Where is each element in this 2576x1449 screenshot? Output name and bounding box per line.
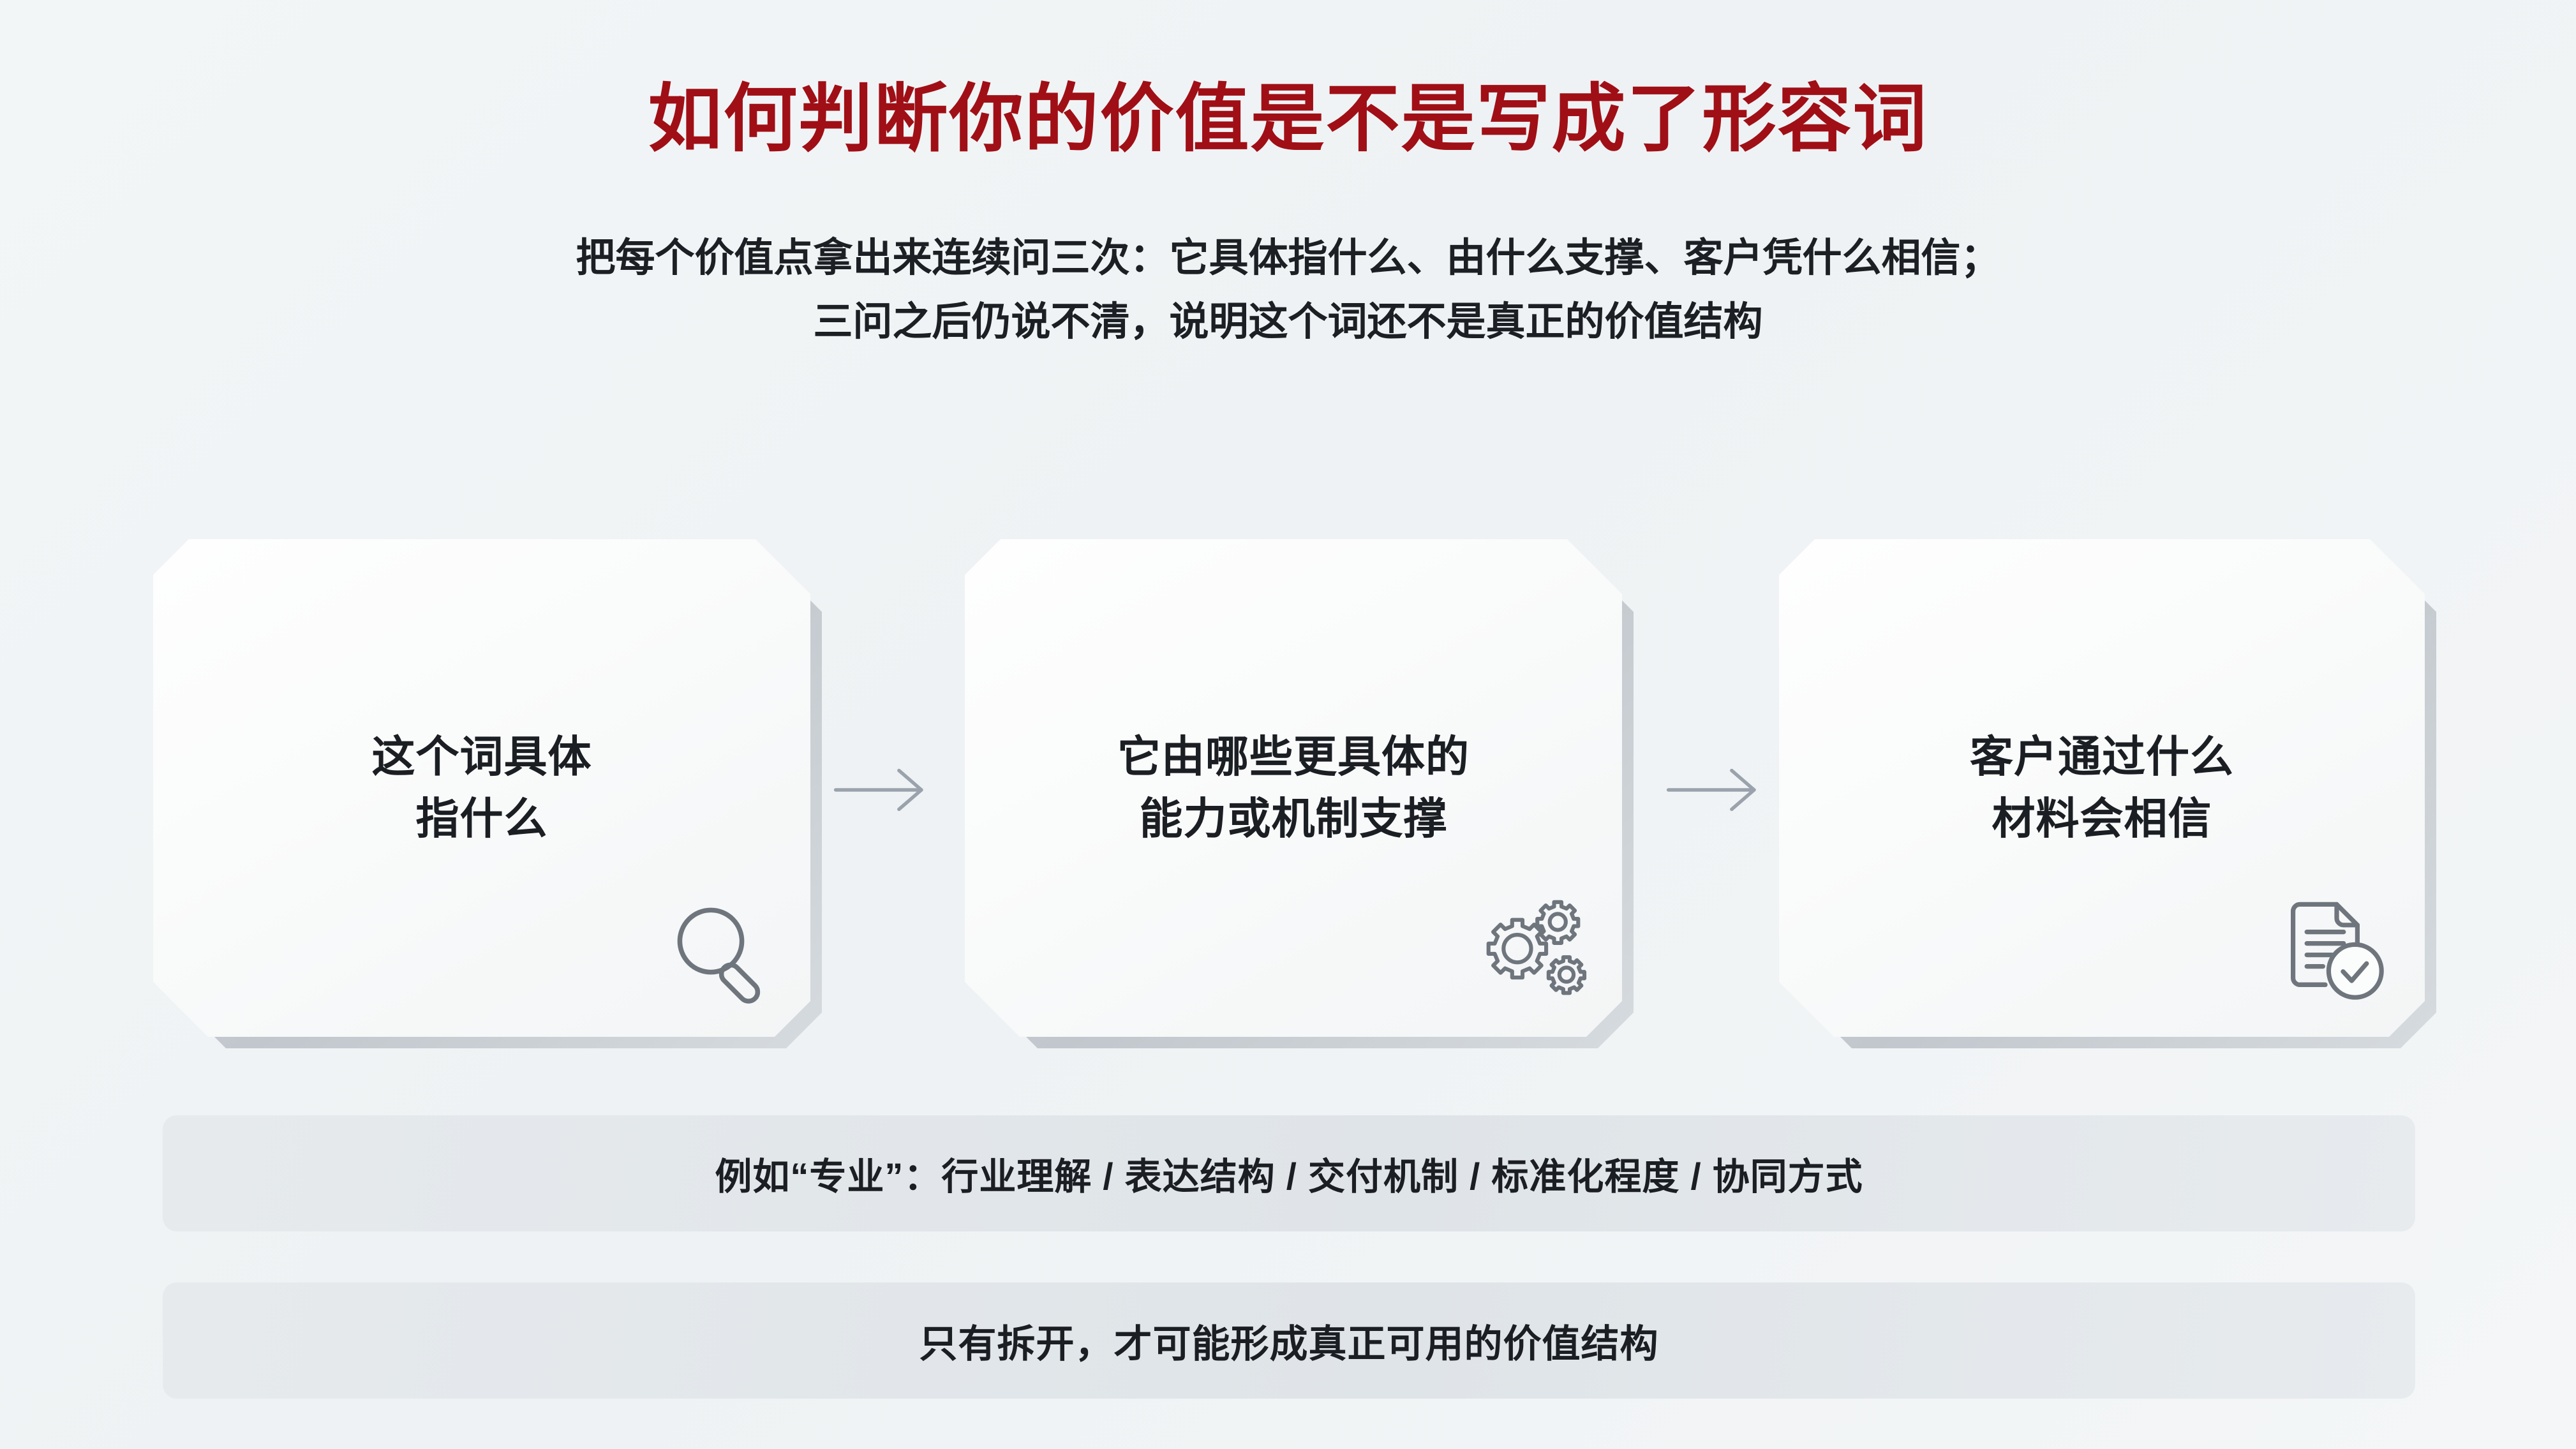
document-check-icon — [2279, 895, 2394, 1010]
magnifier-icon — [665, 895, 780, 1010]
example-note-bar: 例如“专业”：行业理解 / 表达结构 / 交付机制 / 标准化程度 / 协同方式 — [163, 1115, 2415, 1231]
flow-card-row: 这个词具体 指什么 它由哪些更具体的 能力或机制支撑 — [153, 539, 2425, 1050]
card-1-text: 这个词具体 指什么 — [153, 726, 810, 849]
page-subtitle: 把每个价值点拿出来连续问三次：它具体指什么、由什么支撑、客户凭什么相信； 三问之… — [0, 227, 2576, 355]
arrow-right-icon-1 — [830, 764, 932, 815]
card-3-line-2: 材料会相信 — [1779, 788, 2425, 850]
arrow-right-icon-2 — [1662, 764, 1764, 815]
card-3-text: 客户通过什么 材料会相信 — [1779, 726, 2425, 849]
card-2-line-1: 它由哪些更具体的 — [965, 726, 1622, 788]
example-note-text: 例如“专业”：行业理解 / 表达结构 / 交付机制 / 标准化程度 / 协同方式 — [715, 1147, 1863, 1200]
card-2-line-2: 能力或机制支撑 — [965, 788, 1622, 850]
subtitle-line-2: 三问之后仍说不清，说明这个词还不是真正的价值结构 — [0, 290, 2576, 354]
card-1-line-1: 这个词具体 — [153, 726, 810, 788]
card-face: 这个词具体 指什么 — [153, 539, 810, 1037]
card-3-line-1: 客户通过什么 — [1779, 726, 2425, 788]
conclusion-note-text: 只有拆开，才可能形成真正可用的价值结构 — [919, 1313, 1659, 1369]
flow-card-3[interactable]: 客户通过什么 材料会相信 — [1779, 539, 2425, 1037]
flow-card-1[interactable]: 这个词具体 指什么 — [153, 539, 810, 1037]
subtitle-line-1: 把每个价值点拿出来连续问三次：它具体指什么、由什么支撑、客户凭什么相信； — [0, 227, 2576, 290]
gears-icon — [1477, 895, 1591, 1010]
conclusion-note-bar: 只有拆开，才可能形成真正可用的价值结构 — [163, 1282, 2415, 1399]
card-2-text: 它由哪些更具体的 能力或机制支撑 — [965, 726, 1622, 849]
card-face: 它由哪些更具体的 能力或机制支撑 — [965, 539, 1622, 1037]
card-face: 客户通过什么 材料会相信 — [1779, 539, 2425, 1037]
card-1-line-2: 指什么 — [153, 788, 810, 850]
page-title: 如何判断你的价值是不是写成了形容词 — [0, 77, 2576, 161]
flow-card-2[interactable]: 它由哪些更具体的 能力或机制支撑 — [965, 539, 1622, 1037]
